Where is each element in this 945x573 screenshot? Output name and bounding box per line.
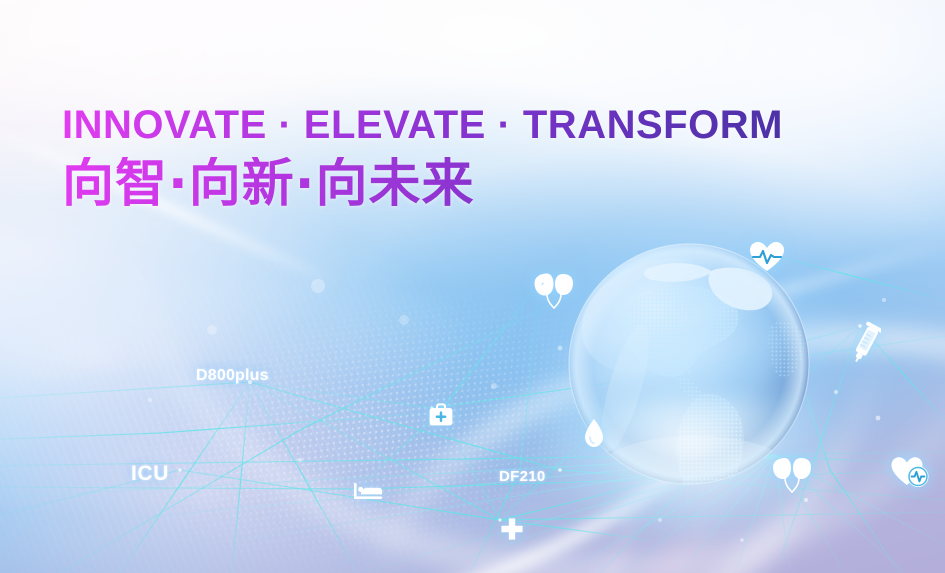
heart-ecg-icon (890, 455, 930, 489)
water-drop-icon (582, 418, 606, 448)
headline-english: INNOVATE · ELEVATE · TRANSFORM (62, 105, 892, 145)
product-label-icu: ICU (131, 462, 169, 486)
syringe-icon (851, 321, 881, 365)
product-label-df210: DF210 (499, 468, 546, 485)
product-label-d800plus: D800plus (196, 367, 269, 385)
hospital-bed-icon (353, 481, 383, 501)
kidney-pair-icon (527, 268, 583, 312)
headline-block: INNOVATE · ELEVATE · TRANSFORM 向智·向新·向未来 (62, 105, 892, 212)
medical-bag-icon (428, 403, 454, 427)
hero-banner: INNOVATE · ELEVATE · TRANSFORM 向智·向新·向未来… (0, 0, 945, 573)
heart-pulse-icon (748, 240, 786, 274)
headline-chinese: 向智·向新·向未来 (62, 157, 892, 212)
medical-cross-icon (501, 518, 523, 540)
kidney-pair-icon-2 (765, 452, 821, 496)
